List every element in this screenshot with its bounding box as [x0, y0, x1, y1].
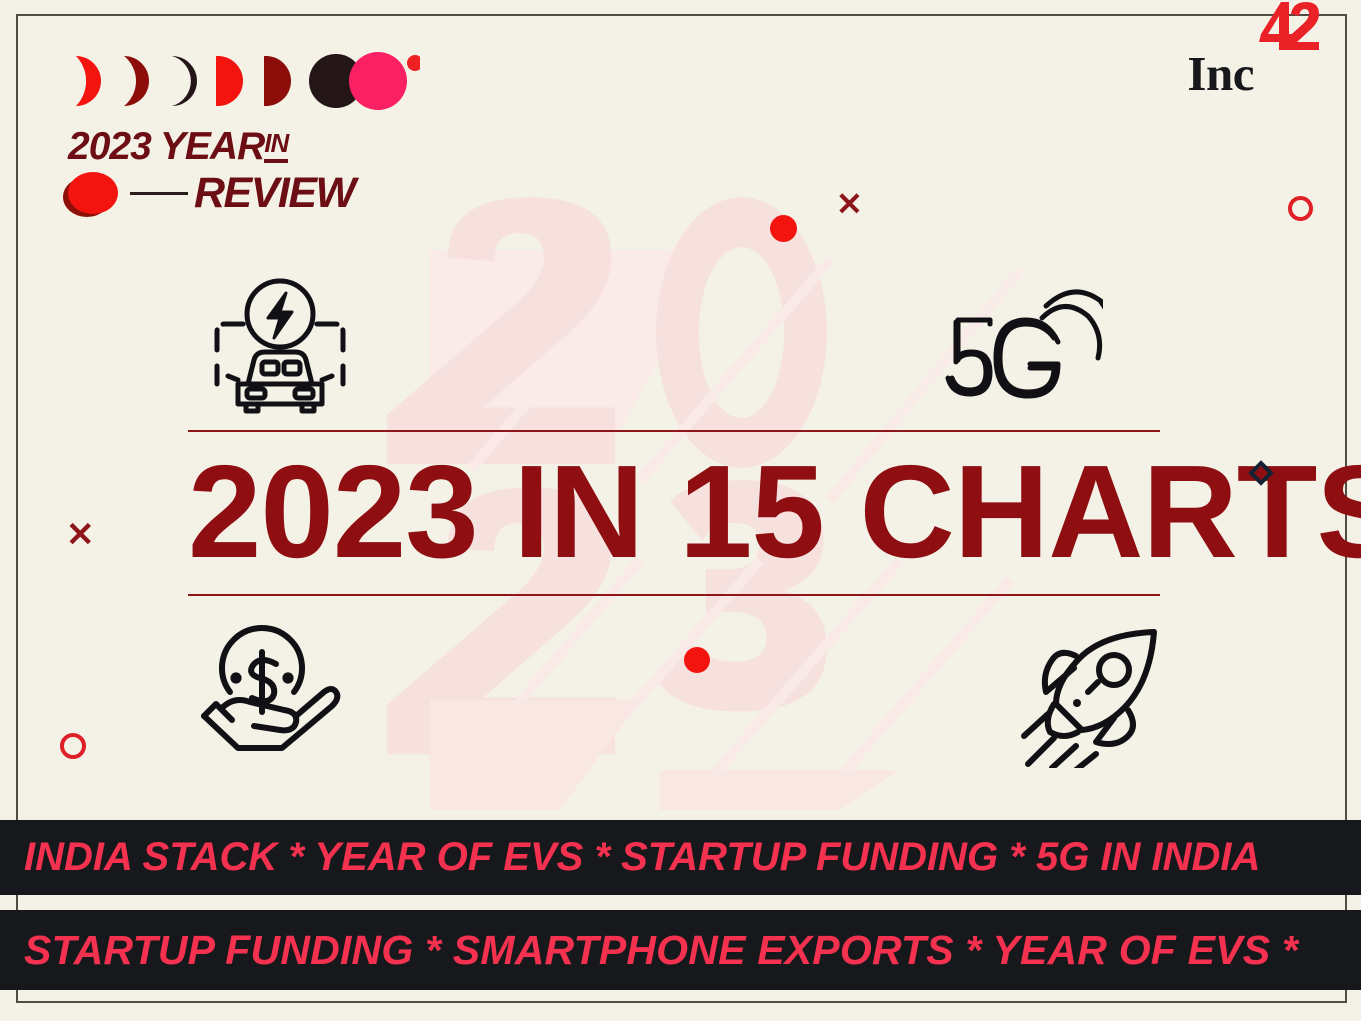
5g-signal-icon: [938, 262, 1103, 422]
moon-2: [124, 56, 149, 106]
moon-7: [349, 52, 407, 110]
ring-right-top: [1288, 196, 1313, 221]
ticker-band-bottom: STARTUP FUNDING * SMARTPHONE EXPORTS * Y…: [0, 910, 1361, 990]
yir-red-dot-icon: [68, 172, 118, 214]
ev-charging-icon: [200, 266, 360, 421]
poster-root: Inc: [0, 0, 1361, 1021]
moon-3: [172, 56, 197, 106]
main-title-block: 2023 IN 15 CHARTS: [188, 430, 1160, 596]
rocket-icon: [1018, 618, 1178, 773]
brand-text-inc: Inc: [1187, 45, 1254, 102]
yir-title-line2: REVIEW: [68, 170, 420, 216]
ticker-band-top-text: INDIA STACK * YEAR OF EVS * STARTUP FUND…: [0, 835, 1260, 880]
moon-phase-row: [68, 52, 420, 110]
year-in-review-badge: 2023 YEARIN REVIEW: [68, 52, 420, 216]
dot-center-bottom: [684, 647, 710, 673]
moon-4: [216, 56, 243, 106]
yir-review-text: REVIEW: [194, 169, 355, 218]
money-in-hand-icon: [192, 620, 357, 775]
moon-1: [76, 56, 101, 106]
brand-text-42: [1255, 38, 1319, 90]
yir-title-line1: 2023 YEARIN: [68, 128, 420, 166]
ticker-band-top: INDIA STACK * YEAR OF EVS * STARTUP FUND…: [0, 820, 1361, 895]
x-mark-left: ✕: [66, 518, 95, 552]
yir-dash-rule: [130, 192, 188, 195]
ring-left-bottom: [60, 733, 86, 759]
dot-center-top: [770, 215, 797, 242]
moon-5: [264, 56, 291, 106]
page-title: 2023 IN 15 CHARTS: [188, 432, 1160, 594]
title-rule-bottom: [188, 594, 1160, 596]
ticker-band-bottom-text: STARTUP FUNDING * SMARTPHONE EXPORTS * Y…: [0, 927, 1298, 974]
yir-in-text: IN: [264, 128, 288, 163]
moon-8: [407, 55, 420, 71]
yir-year-text: 2023 YEAR: [68, 125, 264, 168]
inc42-logo[interactable]: Inc: [1187, 38, 1319, 102]
x-mark-center-top: ✕: [836, 188, 863, 220]
